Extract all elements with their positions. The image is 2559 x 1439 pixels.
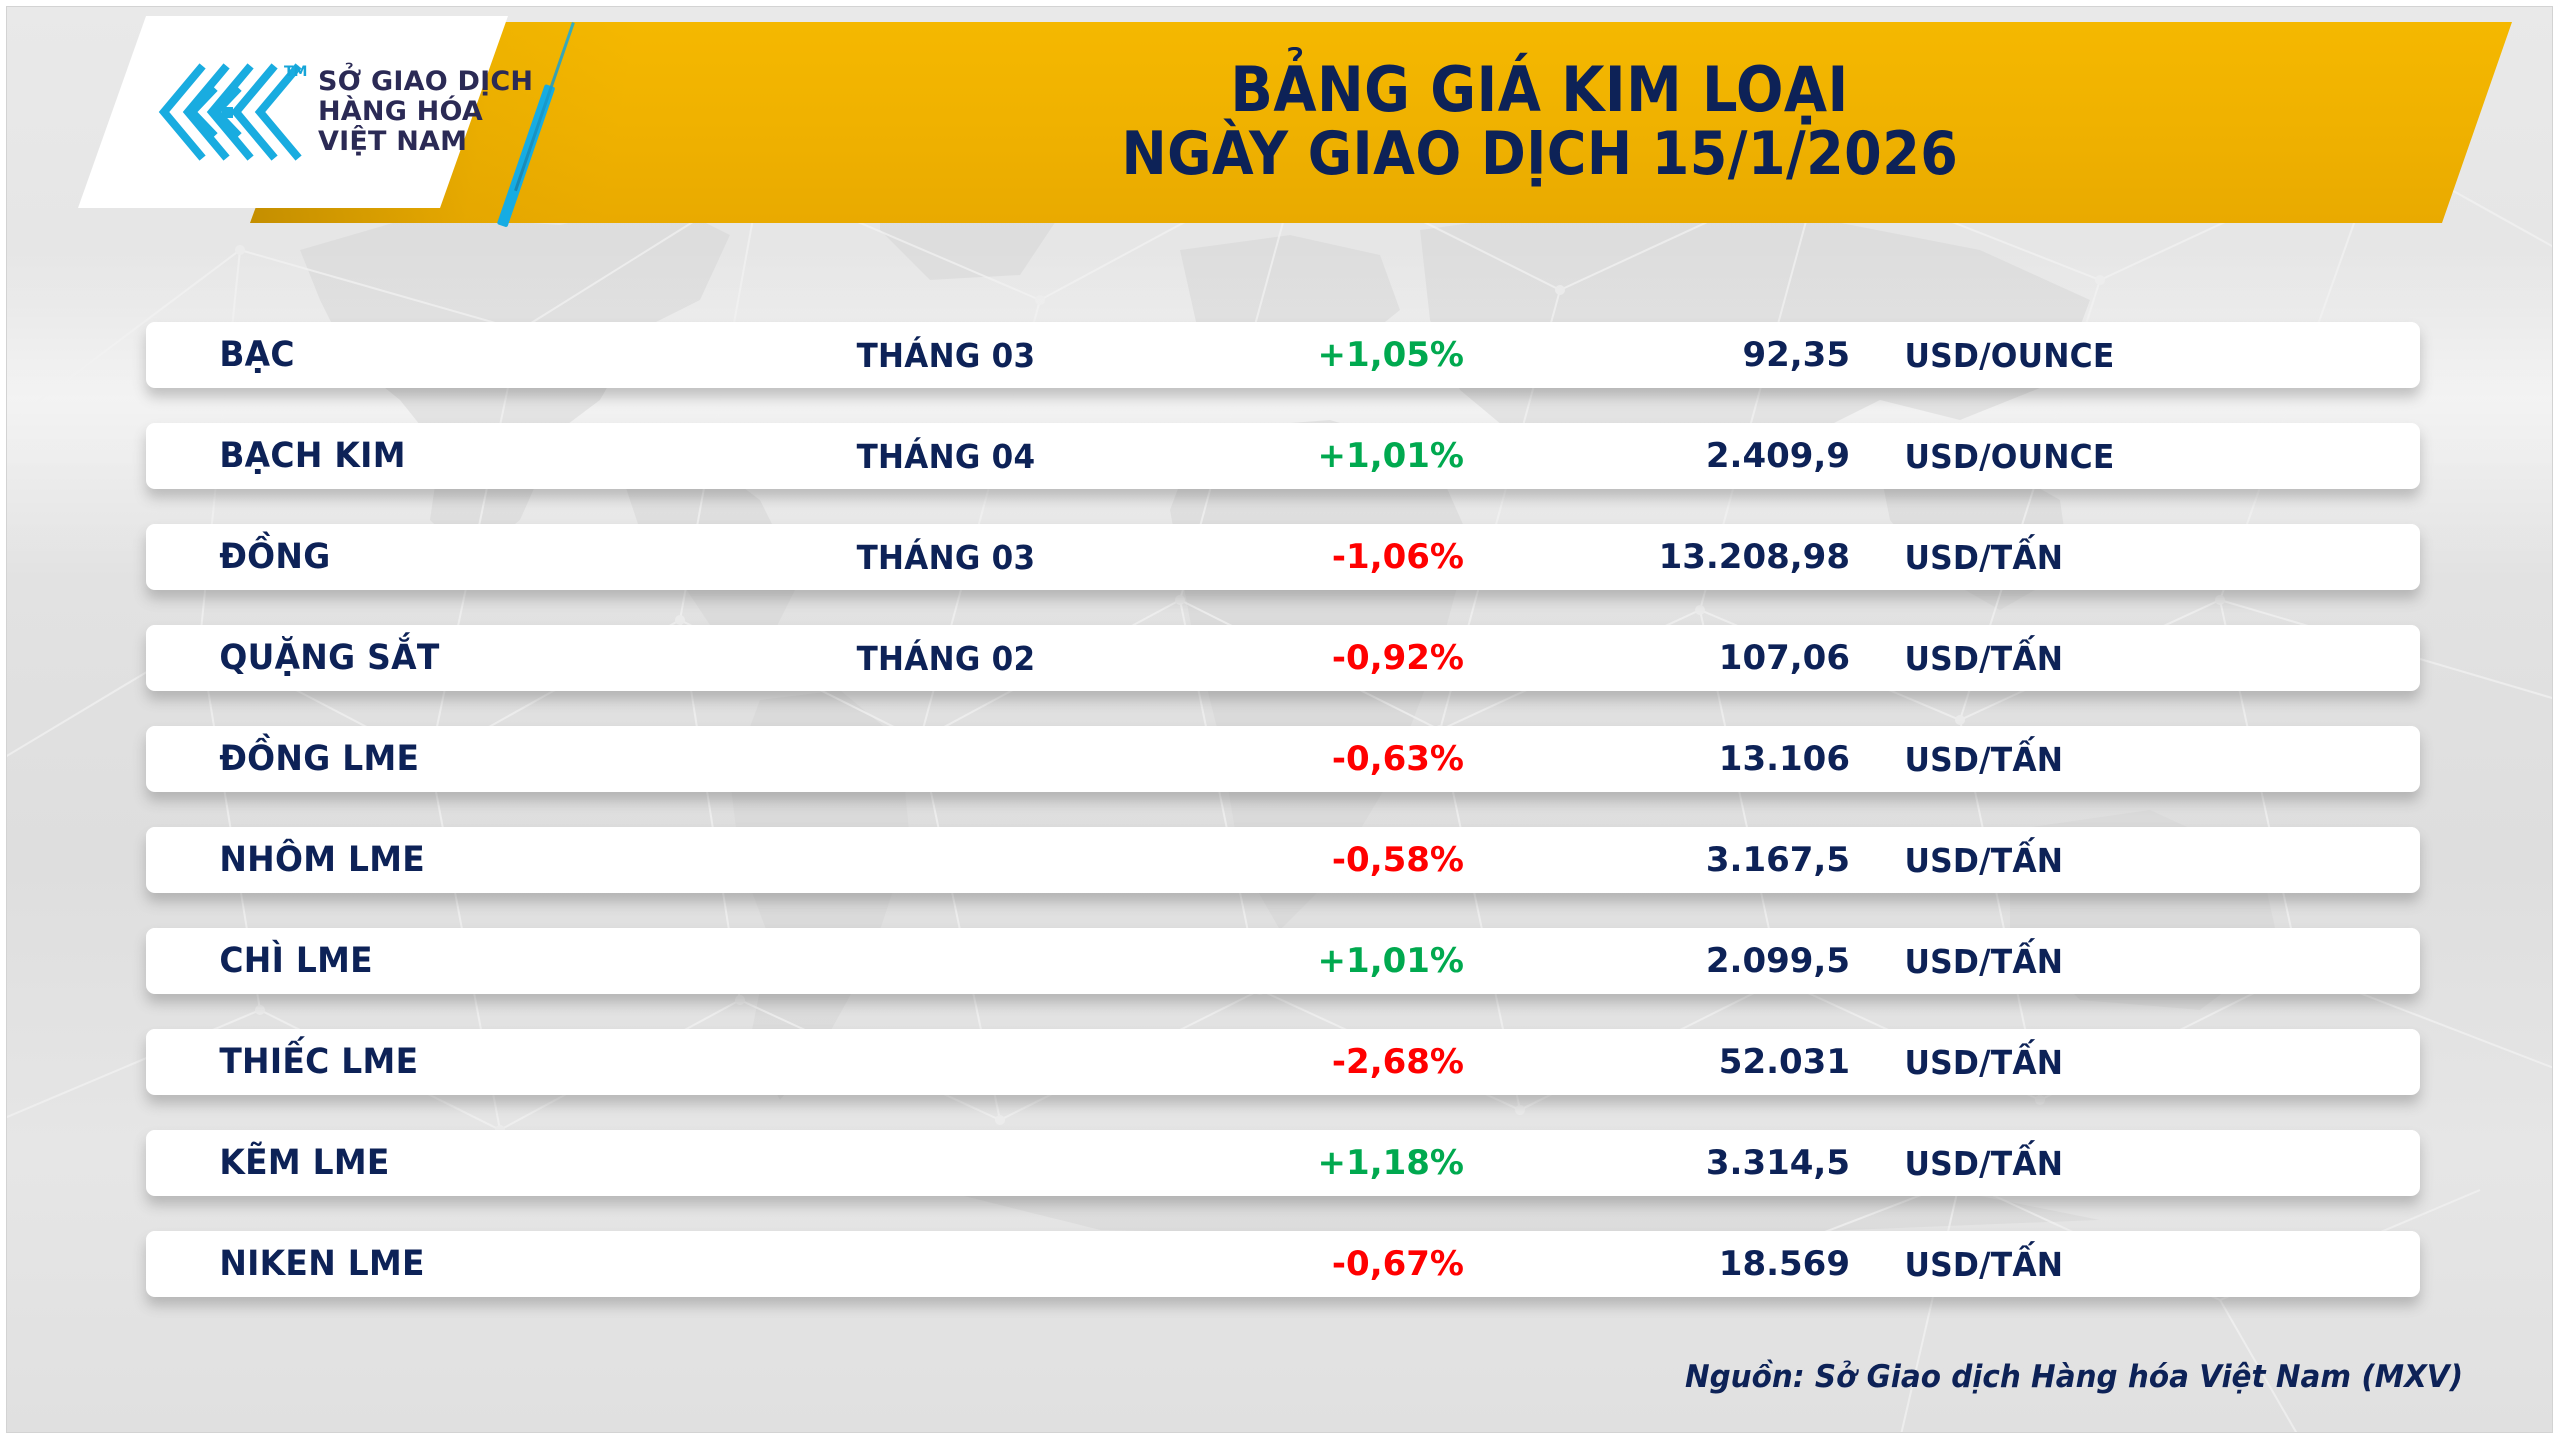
price-change-percent: -0,92% [1126, 638, 1486, 678]
logo-line-1: SỞ GIAO DỊCH [318, 67, 533, 97]
table-row[interactable]: QUẶNG SẮTTHÁNG 02-0,92%107,06USD/TẤN [146, 625, 2420, 691]
price-unit: USD/TẤN [1876, 942, 2393, 981]
price-change-percent: -0,67% [1126, 1244, 1486, 1284]
price-unit: USD/OUNCE [1876, 437, 2393, 476]
commodity-name: QUẶNG SẮT [146, 638, 729, 678]
price-change-percent: -0,63% [1126, 739, 1486, 779]
table-row[interactable]: ĐỒNGTHÁNG 03-1,06%13.208,98USD/TẤN [146, 524, 2420, 590]
price-change-percent: +1,01% [1126, 941, 1486, 981]
contract-month: THÁNG 02 [777, 639, 1115, 678]
price-unit: USD/OUNCE [1876, 336, 2393, 375]
contract-month: THÁNG 03 [777, 538, 1115, 577]
price-change-percent: +1,18% [1126, 1143, 1486, 1183]
logo-line-2: HÀNG HÓA [318, 97, 533, 127]
price-change-percent: -0,58% [1126, 840, 1486, 880]
logo-wordmark: TM SỞ GIAO DỊCH HÀNG HÓA VIỆT NAM [318, 67, 533, 156]
price-value: 92,35 [1486, 335, 1876, 375]
commodity-name: ĐỒNG LME [146, 739, 729, 779]
source-note: Nguồn: Sở Giao dịch Hàng hóa Việt Nam (M… [1685, 1359, 2463, 1395]
price-value: 107,06 [1486, 638, 1876, 678]
commodity-name: KẼM LME [146, 1143, 729, 1183]
price-unit: USD/TẤN [1876, 841, 2393, 880]
table-row[interactable]: THIẾC LME-2,68%52.031USD/TẤN [146, 1029, 2420, 1095]
price-unit: USD/TẤN [1876, 740, 2393, 779]
logo: TM SỞ GIAO DỊCH HÀNG HÓA VIỆT NAM [78, 16, 508, 208]
price-value: 13.106 [1486, 739, 1876, 779]
table-row[interactable]: NHÔM LME-0,58%3.167,5USD/TẤN [146, 827, 2420, 893]
price-change-percent: +1,01% [1126, 436, 1486, 476]
price-change-percent: -2,68% [1126, 1042, 1486, 1082]
table-row[interactable]: ĐỒNG LME-0,63%13.106USD/TẤN [146, 726, 2420, 792]
table-row[interactable]: BẠCH KIMTHÁNG 04+1,01%2.409,9USD/OUNCE [146, 423, 2420, 489]
price-change-percent: -1,06% [1126, 537, 1486, 577]
commodity-name: NIKEN LME [146, 1244, 729, 1284]
table-row[interactable]: NIKEN LME-0,67%18.569USD/TẤN [146, 1231, 2420, 1297]
price-unit: USD/TẤN [1876, 1144, 2393, 1183]
price-unit: USD/TẤN [1876, 1245, 2393, 1284]
price-unit: USD/TẤN [1876, 1043, 2393, 1082]
price-value: 2.409,9 [1486, 436, 1876, 476]
mxv-logo-icon [154, 57, 304, 167]
price-value: 2.099,5 [1486, 941, 1876, 981]
price-value: 52.031 [1486, 1042, 1876, 1082]
table-row[interactable]: BẠCTHÁNG 03+1,05%92,35USD/OUNCE [146, 322, 2420, 388]
commodity-name: BẠCH KIM [146, 436, 729, 476]
price-value: 18.569 [1486, 1244, 1876, 1284]
logo-line-3: VIỆT NAM [318, 127, 533, 157]
metal-price-table: BẠCTHÁNG 03+1,05%92,35USD/OUNCEBẠCH KIMT… [146, 322, 2420, 1332]
table-row[interactable]: KẼM LME+1,18%3.314,5USD/TẤN [146, 1130, 2420, 1196]
table-row[interactable]: CHÌ LME+1,01%2.099,5USD/TẤN [146, 928, 2420, 994]
contract-month: THÁNG 04 [777, 437, 1115, 476]
price-unit: USD/TẤN [1876, 639, 2393, 678]
commodity-name: BẠC [146, 335, 729, 375]
price-value: 3.314,5 [1486, 1143, 1876, 1183]
commodity-name: CHÌ LME [146, 941, 729, 981]
price-change-percent: +1,05% [1126, 335, 1486, 375]
page-header: TM SỞ GIAO DỊCH HÀNG HÓA VIỆT NAM BẢNG G… [0, 0, 2559, 220]
commodity-name: THIẾC LME [146, 1042, 729, 1082]
contract-month: THÁNG 03 [777, 336, 1115, 375]
trademark-icon: TM [284, 65, 307, 80]
price-unit: USD/TẤN [1876, 538, 2393, 577]
price-value: 3.167,5 [1486, 840, 1876, 880]
commodity-name: ĐỒNG [146, 537, 729, 577]
price-value: 13.208,98 [1486, 537, 1876, 577]
commodity-name: NHÔM LME [146, 840, 729, 880]
